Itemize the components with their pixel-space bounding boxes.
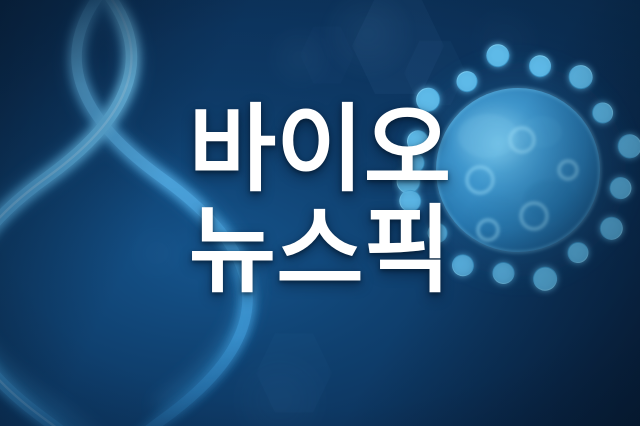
title-line-1: 바이오 bbox=[0, 104, 640, 197]
title-card: 바이오 뉴스픽 bbox=[0, 0, 640, 426]
page-title: 바이오 뉴스픽 bbox=[0, 104, 640, 298]
title-line-2: 뉴스픽 bbox=[0, 205, 640, 298]
